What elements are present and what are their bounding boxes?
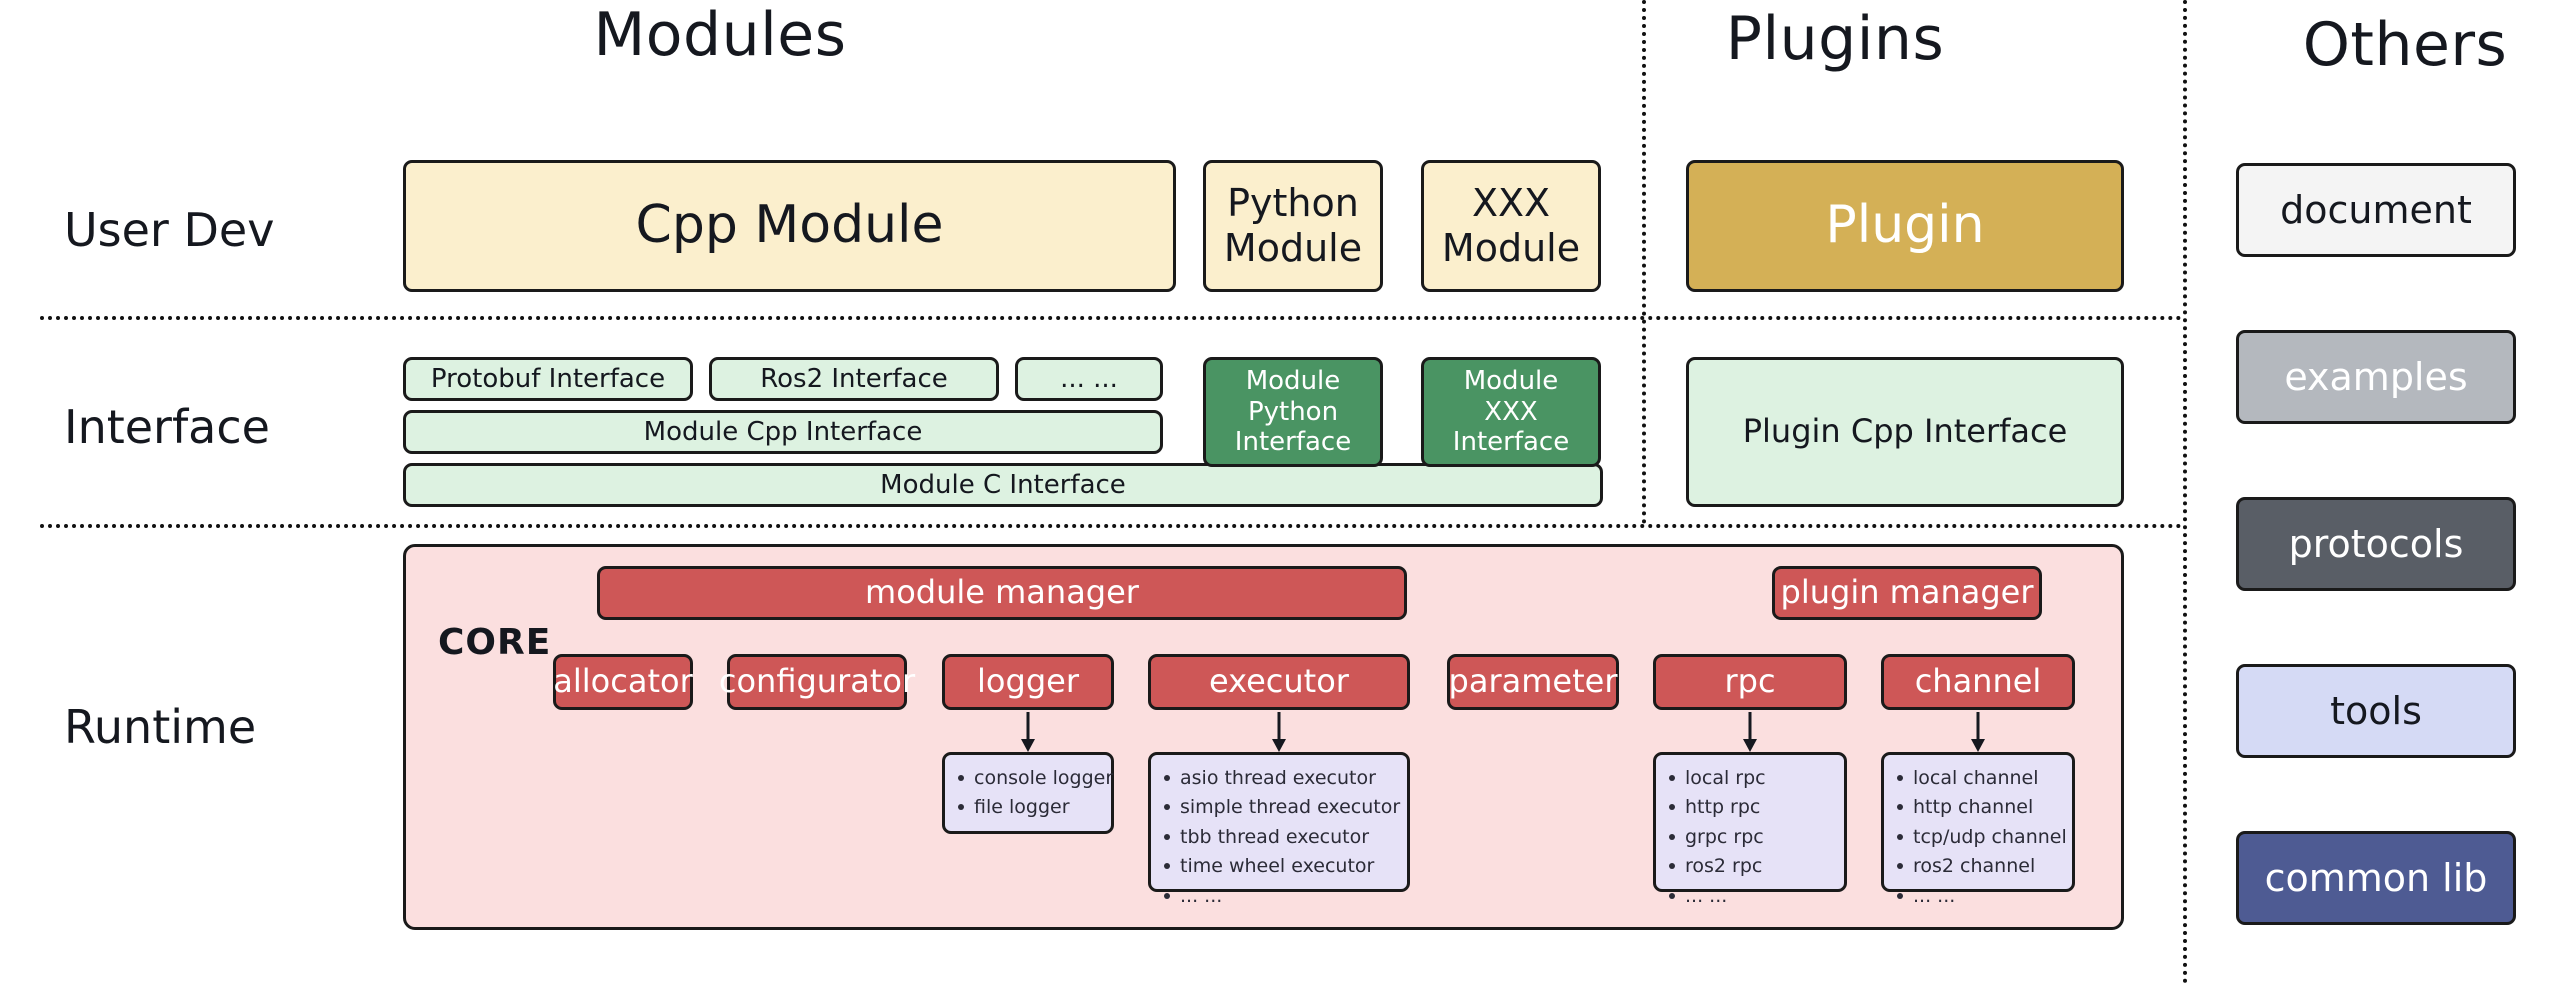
- channel-box[interactable]: channel: [1881, 654, 2075, 710]
- logger-arrow-icon: [1012, 712, 1044, 754]
- column-title-others: Others: [2260, 10, 2550, 80]
- column-title-modules: Modules: [430, 0, 1010, 70]
- module-manager-box[interactable]: module manager: [597, 566, 1407, 620]
- row-label-interface: Interface: [64, 400, 270, 454]
- detail-list-item: time wheel executor: [1161, 852, 1401, 881]
- detail-list-item: ros2 channel: [1894, 852, 2066, 881]
- detail-list-item: file logger: [955, 793, 1105, 822]
- column-title-plugins: Plugins: [1705, 4, 1965, 74]
- protobuf-interface-box[interactable]: Protobuf Interface: [403, 357, 693, 401]
- logger-box[interactable]: logger: [942, 654, 1114, 710]
- executor-details-list: asio thread executorsimple thread execut…: [1161, 764, 1401, 911]
- others-item-common-lib[interactable]: common lib: [2236, 831, 2516, 925]
- logger-details-box: console loggerfile logger: [942, 752, 1114, 834]
- executor-details-box: asio thread executorsimple thread execut…: [1148, 752, 1410, 892]
- detail-list-item: local rpc: [1666, 764, 1838, 793]
- logger-details-list: console loggerfile logger: [955, 764, 1105, 823]
- executor-box[interactable]: executor: [1148, 654, 1410, 710]
- executor-arrow-icon: [1263, 712, 1295, 754]
- xxx-module-box[interactable]: XXX Module: [1421, 160, 1601, 292]
- module-cpp-interface-box[interactable]: Module Cpp Interface: [403, 410, 1163, 454]
- detail-list-item: tbb thread executor: [1161, 823, 1401, 852]
- detail-list-item: grpc rpc: [1666, 823, 1838, 852]
- channel-arrow-icon: [1962, 712, 1994, 754]
- rpc-details-list: local rpchttp rpcgrpc rpcros2 rpc... ...: [1666, 764, 1838, 911]
- detail-list-item: http rpc: [1666, 793, 1838, 822]
- detail-list-item: local channel: [1894, 764, 2066, 793]
- row-label-runtime: Runtime: [64, 700, 256, 754]
- detail-list-item: asio thread executor: [1161, 764, 1401, 793]
- detail-list-item: console logger: [955, 764, 1105, 793]
- cpp-module-box[interactable]: Cpp Module: [403, 160, 1176, 292]
- rpc-box[interactable]: rpc: [1653, 654, 1847, 710]
- row-label-user-dev: User Dev: [64, 203, 274, 257]
- detail-list-item: ... ...: [1666, 882, 1838, 911]
- detail-list-item: http channel: [1894, 793, 2066, 822]
- plugin-manager-box[interactable]: plugin manager: [1772, 566, 2042, 620]
- detail-list-item: ros2 rpc: [1666, 852, 1838, 881]
- core-label: CORE: [438, 622, 551, 663]
- divider-interface-runtime: [40, 524, 2183, 528]
- others-item-examples[interactable]: examples: [2236, 330, 2516, 424]
- other-interface-box[interactable]: ... ...: [1015, 357, 1163, 401]
- others-item-document[interactable]: document: [2236, 163, 2516, 257]
- parameter-box[interactable]: parameter: [1447, 654, 1619, 710]
- detail-list-item: ... ...: [1161, 882, 1401, 911]
- channel-details-box: local channelhttp channeltcp/udp channel…: [1881, 752, 2075, 892]
- detail-list-item: ... ...: [1894, 882, 2066, 911]
- module-c-interface-box[interactable]: Module C Interface: [403, 463, 1603, 507]
- plugin-cpp-interface-box[interactable]: Plugin Cpp Interface: [1686, 357, 2124, 507]
- python-module-box[interactable]: Python Module: [1203, 160, 1383, 292]
- detail-list-item: simple thread executor: [1161, 793, 1401, 822]
- plugin-box[interactable]: Plugin: [1686, 160, 2124, 292]
- allocator-box[interactable]: allocator: [553, 654, 693, 710]
- divider-plugins-others: [2183, 0, 2187, 984]
- detail-list-item: tcp/udp channel: [1894, 823, 2066, 852]
- configurator-box[interactable]: configurator: [727, 654, 907, 710]
- rpc-arrow-icon: [1734, 712, 1766, 754]
- channel-details-list: local channelhttp channeltcp/udp channel…: [1894, 764, 2066, 911]
- others-item-protocols[interactable]: protocols: [2236, 497, 2516, 591]
- ros2-interface-box[interactable]: Ros2 Interface: [709, 357, 999, 401]
- divider-modules-plugins: [1642, 0, 1646, 524]
- others-item-tools[interactable]: tools: [2236, 664, 2516, 758]
- module-xxx-interface-box[interactable]: Module XXX Interface: [1421, 357, 1601, 467]
- architecture-diagram: Modules Plugins Others User Dev Interfac…: [0, 0, 2560, 984]
- rpc-details-box: local rpchttp rpcgrpc rpcros2 rpc... ...: [1653, 752, 1847, 892]
- module-python-interface-box[interactable]: Module Python Interface: [1203, 357, 1383, 467]
- divider-userdev-interface: [40, 316, 2183, 320]
